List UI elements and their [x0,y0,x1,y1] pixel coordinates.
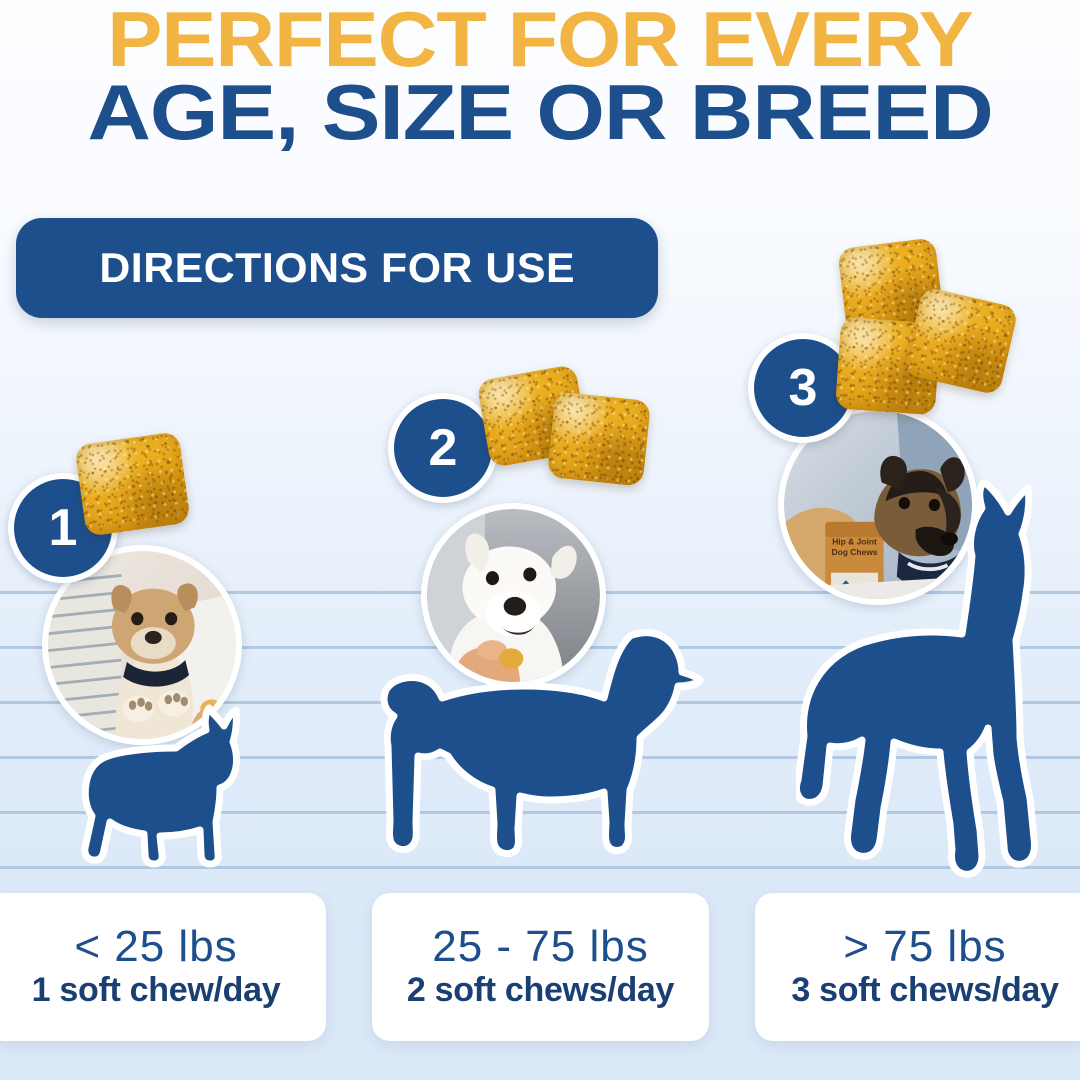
small-dog-silhouette-french-bulldog [56,704,246,869]
directions-for-use-label: DIRECTIONS FOR USE [99,244,575,292]
medium-dog-silhouette-labrador [378,618,710,878]
step-2-treat-two-chews-second [547,391,651,487]
step-1-treat-single-chew [74,431,191,537]
dosage-card-large: > 75 lbs 3 soft chews/day [755,893,1080,1041]
large-dog-silhouette-great-dane [796,480,1080,880]
step-2-number: 2 [429,418,458,478]
dosage-weight-small: < 25 lbs [74,924,237,970]
page-title: PERFECT FOR EVERY AGE, SIZE OR BREED [0,0,1080,149]
step-1-number: 1 [49,498,78,558]
dosage-weight-large: > 75 lbs [843,924,1006,970]
infographic-canvas: PERFECT FOR EVERY AGE, SIZE OR BREED DIR… [0,0,1080,1080]
headline-line-1: PERFECT FOR EVERY [0,4,1080,76]
headline-line-2: AGE, SIZE OR BREED [0,77,1080,149]
dosage-card-small: < 25 lbs 1 soft chew/day [0,893,326,1041]
dosage-dose-large: 3 soft chews/day [791,972,1058,1009]
directions-for-use-banner: DIRECTIONS FOR USE [16,218,658,318]
dosage-dose-medium: 2 soft chews/day [407,972,674,1009]
dosage-card-medium: 25 - 75 lbs 2 soft chews/day [372,893,709,1041]
dosage-dose-small: 1 soft chew/day [32,972,281,1009]
dosage-weight-medium: 25 - 75 lbs [432,924,648,970]
step-3-number: 3 [789,358,818,418]
